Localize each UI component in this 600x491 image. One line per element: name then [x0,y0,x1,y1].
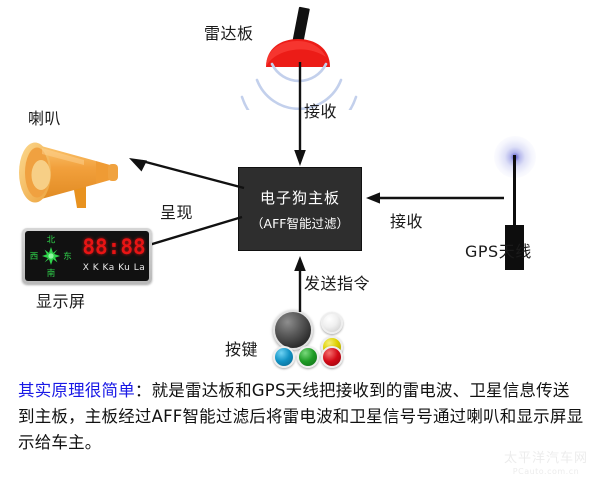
caption-paragraph: 其实原理很简单：就是雷达板和GPS天线把接收到的雷电波、卫星信息传送到主板，主板… [18,378,584,456]
buttons-label: 按键 [225,336,258,360]
arrow-label-gps-receive: 接收 [390,208,423,232]
board-subtitle: （AFF智能过滤） [251,213,349,232]
screen-label: 显示屏 [36,288,86,312]
central-board: 电子狗主板 （AFF智能过滤） [238,167,362,251]
radar-label: 雷达板 [204,20,254,44]
compass-south: 南 [47,268,56,278]
display-screen: 北 东 南 西 88:88 X K Ka Ku La [22,228,152,284]
compass-rose-icon: 北 东 南 西 [29,234,73,278]
compass-north: 北 [47,235,56,245]
compass-east: 东 [63,251,72,262]
compass-west: 西 [30,252,39,262]
caption-highlight: 其实原理很简单 [18,381,135,400]
screen-digits: 88:88 [77,235,149,259]
main-button[interactable] [273,310,313,350]
white-button[interactable] [321,312,343,334]
arrow-label-send-command: 发送指令 [304,270,370,294]
gps-pole-icon [513,155,516,230]
speaker-label: 喇叭 [28,105,61,129]
green-button[interactable] [297,346,319,368]
board-title: 电子狗主板 [260,187,340,208]
button-cluster[interactable] [273,310,357,368]
watermark-line1: 太平洋汽车网 [498,452,594,467]
screen-bands: X K Ka Ku La [75,263,149,273]
arrow-board-to-speaker [128,158,246,190]
speaker-horn-icon [10,128,140,213]
diagram-canvas: 雷达板 接收 电子狗主板 （AFF智能过滤） 喇叭 [0,0,600,491]
screen-inner: 北 东 南 西 88:88 X K Ka Ku La [25,231,149,281]
watermark-line2: PCauto.com.cn [498,467,594,476]
red-button[interactable] [321,346,343,368]
blue-button[interactable] [273,346,295,368]
arrow-label-radar-receive: 接收 [304,98,337,122]
watermark: 太平洋汽车网 PCauto.com.cn [498,452,594,476]
arrow-gps-to-board [366,190,506,206]
arrow-label-present: 呈现 [160,199,193,223]
gps-label: GPS天线 [465,238,532,262]
